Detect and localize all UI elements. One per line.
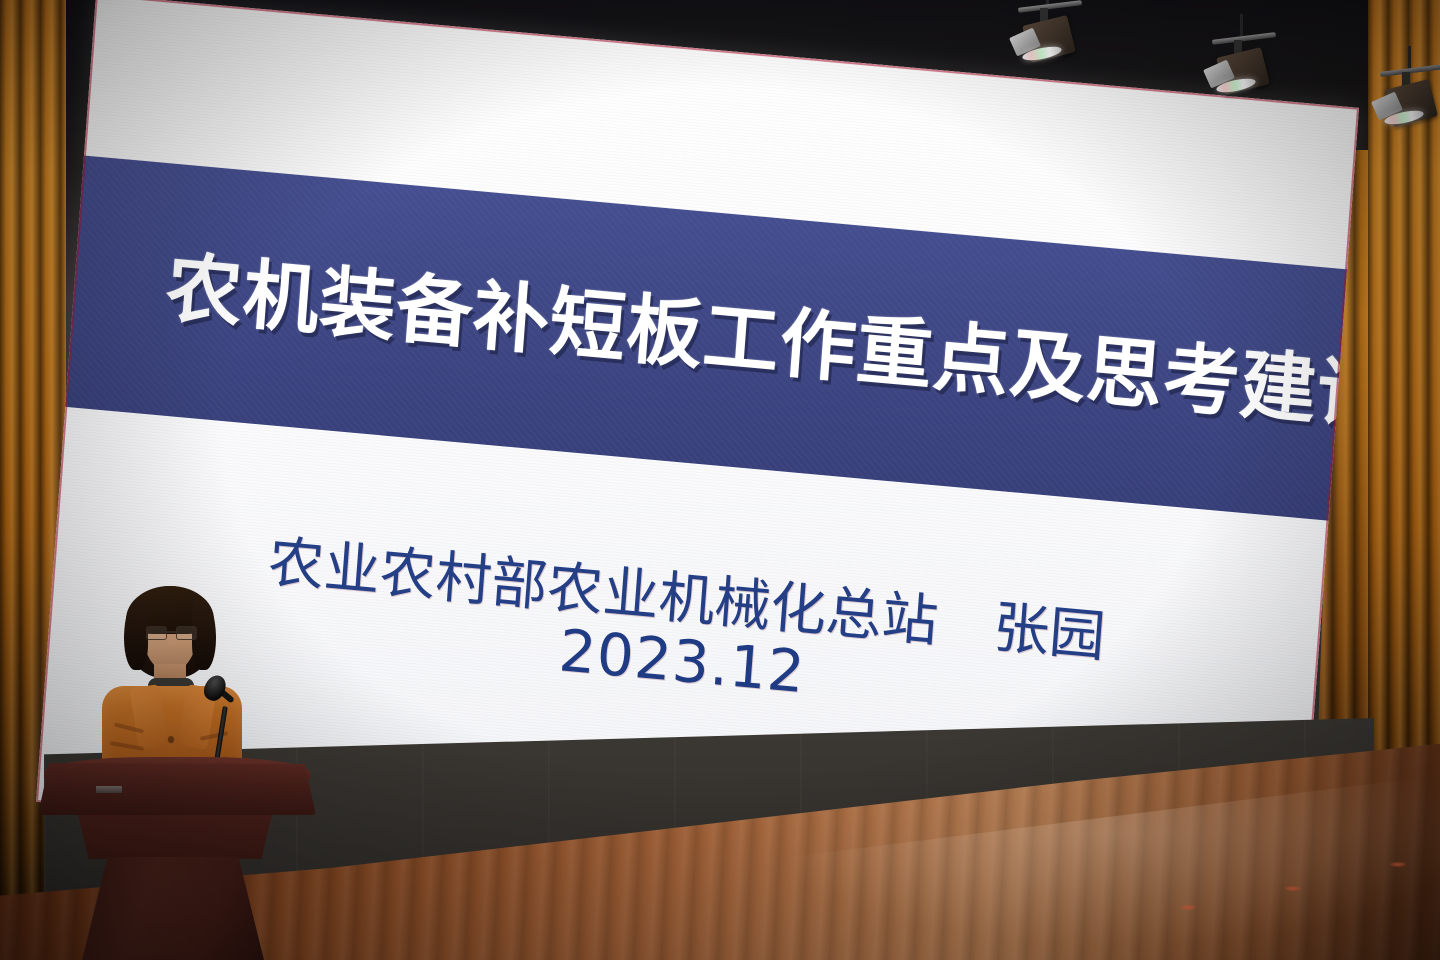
glasses-lens-right [176, 626, 197, 640]
floor-light-spot [1180, 905, 1196, 910]
podium-middle [72, 815, 278, 859]
floor-light-spot [1390, 862, 1406, 867]
podium-base [82, 857, 264, 960]
glasses-lens-left [146, 626, 167, 640]
glasses-bridge [165, 631, 176, 633]
podium-top [38, 763, 316, 815]
glasses-icon [146, 626, 196, 638]
hair-side-left [124, 600, 148, 670]
jacket-button [168, 736, 174, 742]
spotlight-stem [1240, 14, 1243, 38]
floor-light-spot [1285, 886, 1301, 891]
spotlight-stem [1408, 46, 1411, 70]
auditorium-scene: 农机装备补短板工作重点及思考建议 农业农村部农业机械化总站 张园 2023.12 [0, 0, 1440, 960]
podium-nameplate [96, 786, 122, 793]
